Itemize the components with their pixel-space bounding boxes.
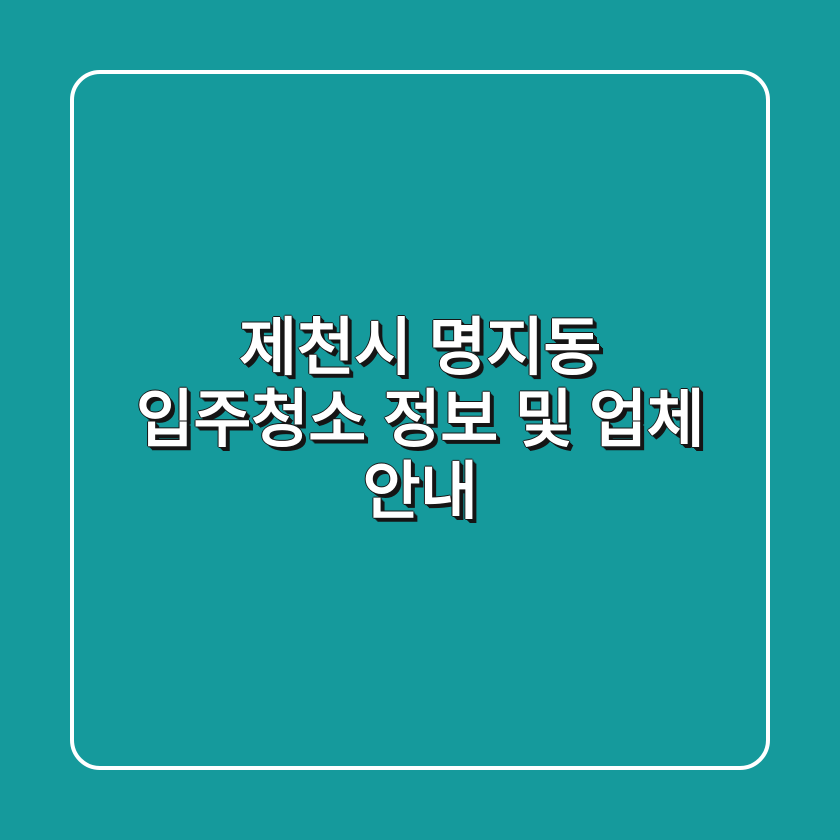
- thumbnail-card: 제천시 명지동 입주청소 정보 및 업체 안내: [0, 0, 840, 840]
- title-line-2: 입주청소 정보 및 업체: [95, 384, 745, 456]
- page-title: 제천시 명지동 입주청소 정보 및 업체 안내: [0, 0, 840, 840]
- title-line-3: 안내: [95, 456, 745, 528]
- title-line-1: 제천시 명지동: [95, 312, 745, 384]
